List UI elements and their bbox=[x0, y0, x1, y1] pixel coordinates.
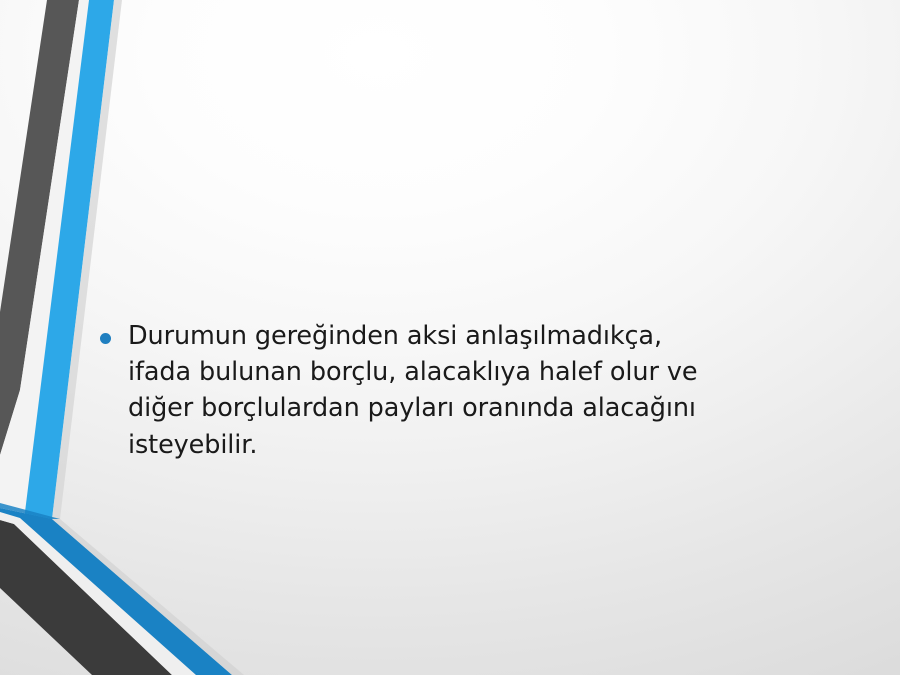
stripe-vertex-wedge bbox=[0, 503, 60, 519]
presentation-slide: Durumun gereğinden aksi anlaşılmadıkça, … bbox=[0, 0, 900, 675]
left-dark-gray-stripe bbox=[0, 0, 79, 455]
bottom-blue-stripe-shadow bbox=[52, 519, 244, 675]
left-stripe-gap bbox=[0, 0, 89, 520]
bottom-stripe-gap bbox=[0, 512, 196, 675]
bullet-list-item: Durumun gereğinden aksi anlaşılmadıkça, … bbox=[100, 318, 830, 463]
bottom-blue-stripe bbox=[0, 508, 232, 675]
bottom-dark-gray-stripe bbox=[0, 520, 172, 675]
body-paragraph: Durumun gereğinden aksi anlaşılmadıkça, … bbox=[128, 318, 830, 463]
slide-content-placeholder: Durumun gereğinden aksi anlaşılmadıkça, … bbox=[100, 318, 830, 463]
bullet-dot-icon bbox=[100, 333, 111, 344]
